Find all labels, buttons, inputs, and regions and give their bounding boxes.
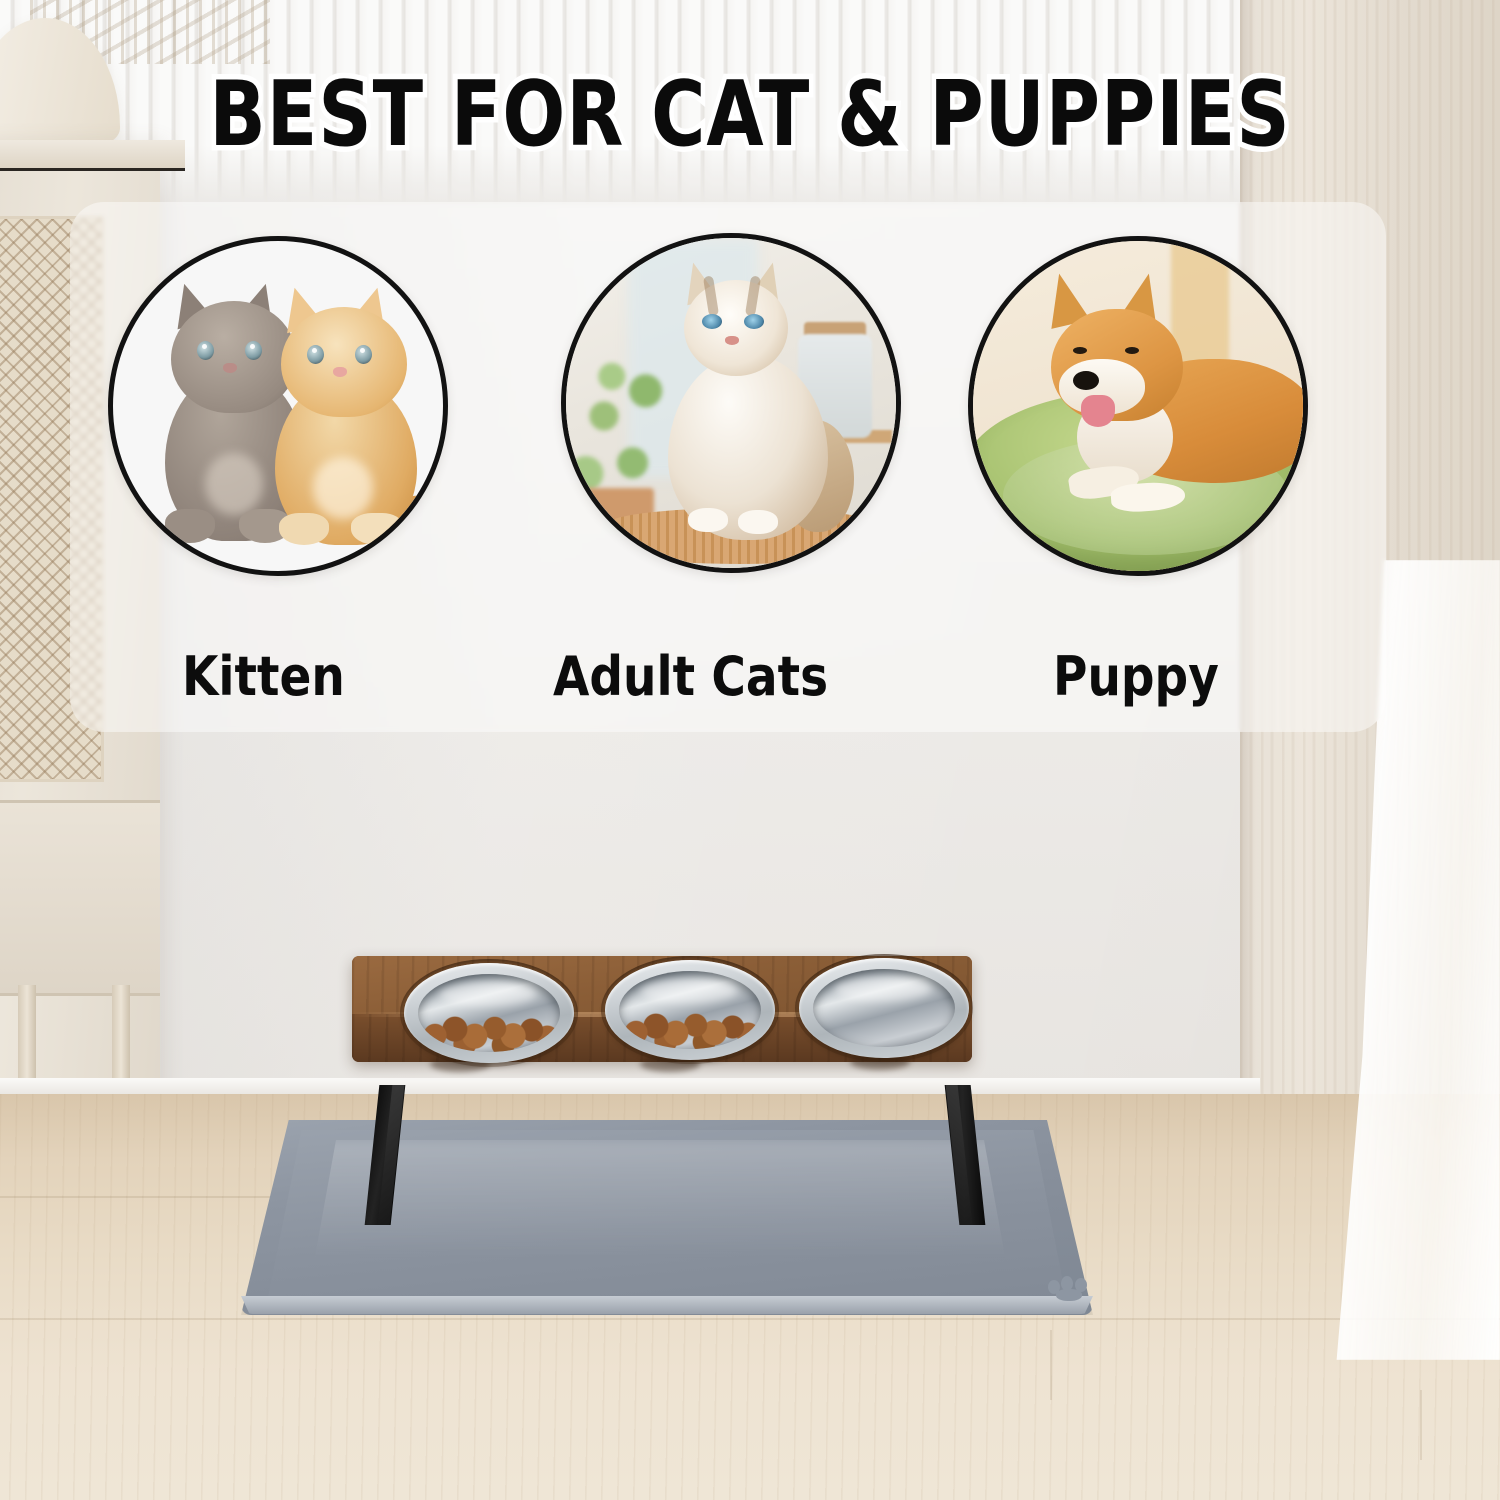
stainless-bowl-center	[605, 960, 775, 1060]
floor-plank-seam	[1050, 1330, 1052, 1400]
product-marketing-image: BEST FOR CAT & PUPPIES Kitten	[0, 0, 1500, 1500]
stainless-bowl-left	[404, 963, 574, 1063]
bowl-interior-empty	[813, 969, 955, 1047]
cabinet-drawer	[0, 800, 160, 996]
headline-text: BEST FOR CAT & PUPPIES	[0, 62, 1500, 167]
audience-label-puppy: Puppy	[1053, 645, 1219, 709]
audience-photo-puppy	[968, 236, 1308, 576]
kibble-left	[418, 1008, 560, 1052]
adult-cat-illustration	[662, 270, 808, 532]
floor-plank-seam	[0, 1318, 1500, 1320]
shiba-inu-illustration	[1015, 275, 1308, 525]
mat-highlight	[300, 1140, 1020, 1260]
stainless-bowl-right	[799, 958, 969, 1058]
audience-label-kitten: Kitten	[182, 645, 345, 709]
audience-photo-kitten	[108, 236, 448, 576]
audience-photo-adult-cats	[561, 233, 901, 573]
bowl-interior	[619, 971, 761, 1049]
kibble-center	[619, 1005, 761, 1049]
audience-label-adult-cats: Adult Cats	[553, 645, 828, 709]
floor-plank-seam	[1420, 1390, 1422, 1460]
mat-paw-print-tab	[1048, 1272, 1092, 1300]
mat-front-lip	[241, 1296, 1093, 1314]
bowl-interior	[418, 974, 560, 1052]
